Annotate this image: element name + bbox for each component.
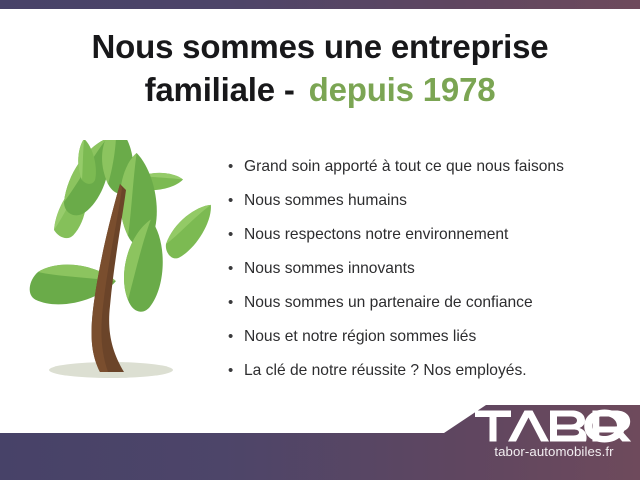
title-line-1: Nous sommes une entreprise (0, 26, 640, 69)
bullet-marker-icon: • (228, 252, 244, 286)
tabor-wordmark-icon (474, 409, 634, 443)
list-item-label: Nous respectons notre environnement (244, 218, 508, 252)
bullet-marker-icon: • (228, 150, 244, 184)
list-item: • Nous sommes innovants (228, 252, 628, 286)
bullet-marker-icon: • (228, 184, 244, 218)
page-title: Nous sommes une entreprise familiale -de… (0, 26, 640, 112)
list-item: • Nous respectons notre environnement (228, 218, 628, 252)
list-item: • Nous et notre région sommes liés (228, 320, 628, 354)
list-item-label: Nous sommes humains (244, 184, 407, 218)
list-item: • Nous sommes un partenaire de confiance (228, 286, 628, 320)
bullet-marker-icon: • (228, 218, 244, 252)
list-item-label: La clé de notre réussite ? Nos employés. (244, 354, 527, 388)
family-tree-illustration (8, 140, 213, 390)
bullet-marker-icon: • (228, 320, 244, 354)
bullet-marker-icon: • (228, 354, 244, 388)
title-line-2-main: familiale - (145, 71, 295, 108)
footer-logo[interactable]: tabor-automobiles.fr (474, 409, 634, 459)
list-item-label: Nous sommes innovants (244, 252, 415, 286)
list-item: • Nous sommes humains (228, 184, 628, 218)
list-item-label: Nous et notre région sommes liés (244, 320, 476, 354)
footer-website[interactable]: tabor-automobiles.fr (474, 444, 634, 459)
list-item: • Grand soin apporté à tout ce que nous … (228, 150, 628, 184)
leaf-far-right (159, 205, 213, 260)
list-item: • La clé de notre réussite ? Nos employé… (228, 354, 628, 388)
list-item-label: Grand soin apporté à tout ce que nous fa… (244, 150, 564, 184)
bullet-marker-icon: • (228, 286, 244, 320)
title-since-accent: depuis 1978 (309, 71, 496, 108)
top-accent-bar (0, 0, 640, 9)
title-line-2: familiale -depuis 1978 (0, 69, 640, 112)
slide-canvas: Nous sommes une entreprise familiale -de… (0, 0, 640, 480)
value-proposition-list: • Grand soin apporté à tout ce que nous … (228, 150, 628, 388)
list-item-label: Nous sommes un partenaire de confiance (244, 286, 533, 320)
